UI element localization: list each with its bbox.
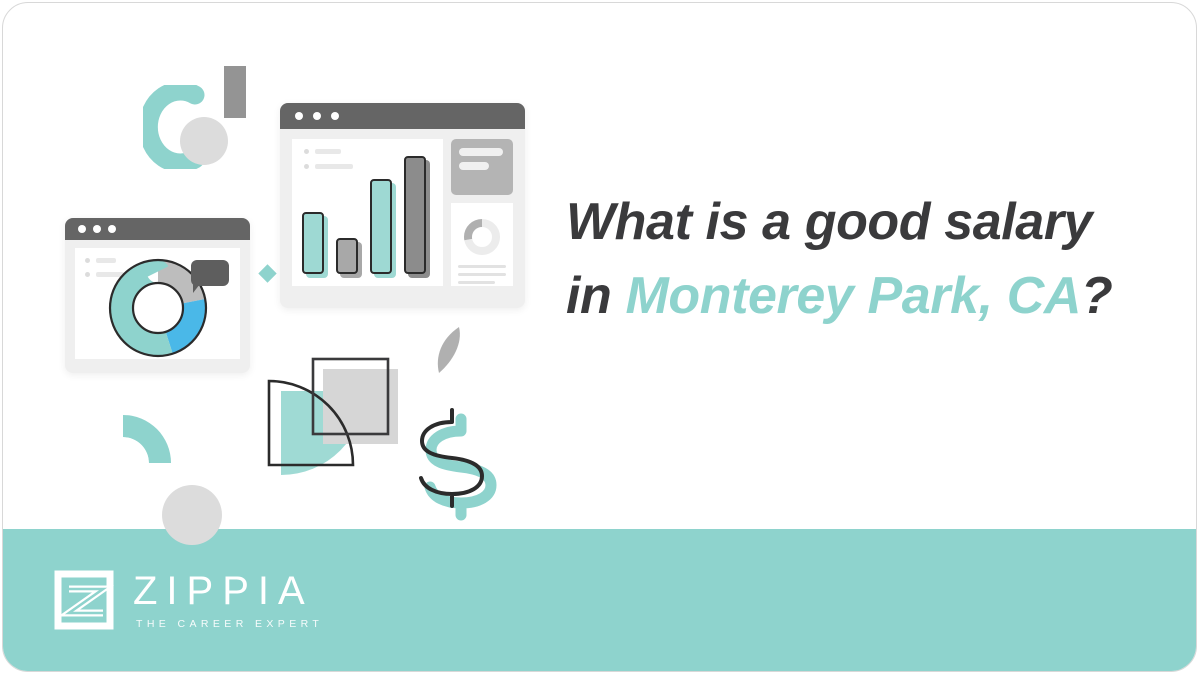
- bar-3: [370, 179, 392, 274]
- window-dot-3: [108, 225, 116, 233]
- legend-dot-icon: [85, 272, 90, 277]
- bars-side-column: [451, 139, 513, 286]
- side-donut-card: [451, 203, 513, 286]
- legend-dot-icon: [304, 149, 309, 154]
- logo-tagline: THE CAREER EXPERT: [136, 618, 323, 630]
- side-pill-1: [459, 148, 503, 156]
- logo-name: ZIPPIA: [133, 571, 323, 611]
- window-dot-2: [313, 112, 321, 120]
- legend-dot-icon: [304, 164, 309, 169]
- headline-line-1: What is a good salary: [566, 193, 1092, 251]
- side-summary-card: [451, 139, 513, 195]
- donut-window-body: [75, 248, 240, 359]
- analytics-browser-window[interactable]: [280, 103, 525, 308]
- legend-placeholder-bar: [315, 164, 353, 169]
- bar-4: [404, 156, 426, 274]
- donut-inner-ring: [133, 283, 183, 333]
- bar-legend-row-1: [304, 149, 341, 154]
- headline-line-2-prefix: in: [566, 267, 625, 325]
- side-text-line-1: [458, 265, 506, 268]
- gray-vertical-bar: [224, 66, 246, 118]
- bar-chart-panel: [292, 139, 443, 286]
- side-donut-chart: [461, 216, 503, 258]
- donut-window-titlebar: [65, 218, 250, 240]
- legend-placeholder-bar: [315, 149, 341, 154]
- gray-circle-small: [180, 117, 228, 165]
- window-dot-1: [78, 225, 86, 233]
- window-dot-2: [93, 225, 101, 233]
- bars-window-titlebar: [280, 103, 525, 129]
- window-dot-1: [295, 112, 303, 120]
- logo-wordmark: ZIPPIA THE CAREER EXPERT: [133, 571, 323, 630]
- page-title: What is a good salary in Monterey Park, …: [566, 186, 1166, 334]
- side-text-line-3: [458, 281, 495, 284]
- zippia-logo[interactable]: ZIPPIA THE CAREER EXPERT: [53, 569, 323, 631]
- teal-quarter-arc: [121, 413, 173, 465]
- window-dot-3: [331, 112, 339, 120]
- dollar-sign: [408, 408, 513, 528]
- gray-circle-large: [162, 485, 222, 545]
- donut-callout-bubble: [191, 260, 229, 286]
- bar-legend-row-2: [304, 164, 353, 169]
- bar-1: [302, 212, 324, 274]
- promo-card: What is a good salary in Monterey Park, …: [2, 2, 1197, 672]
- square-and-quarter-pie-shapes: [253, 351, 413, 496]
- side-pill-2: [459, 162, 489, 170]
- gray-petal: [433, 325, 467, 375]
- bar-2: [336, 238, 358, 274]
- dollar-teal-fill: [430, 419, 491, 515]
- headline-line-2-suffix: ?: [1081, 267, 1112, 325]
- zippia-z-mark: [53, 569, 115, 631]
- donut-browser-window[interactable]: [65, 218, 250, 373]
- donut-callout-tail: [193, 284, 200, 293]
- legend-dot-icon: [85, 258, 90, 263]
- headline-location: Monterey Park, CA: [625, 267, 1081, 325]
- side-text-line-2: [458, 273, 506, 276]
- bars-window-body: [292, 139, 513, 286]
- teal-diamond: [258, 264, 276, 282]
